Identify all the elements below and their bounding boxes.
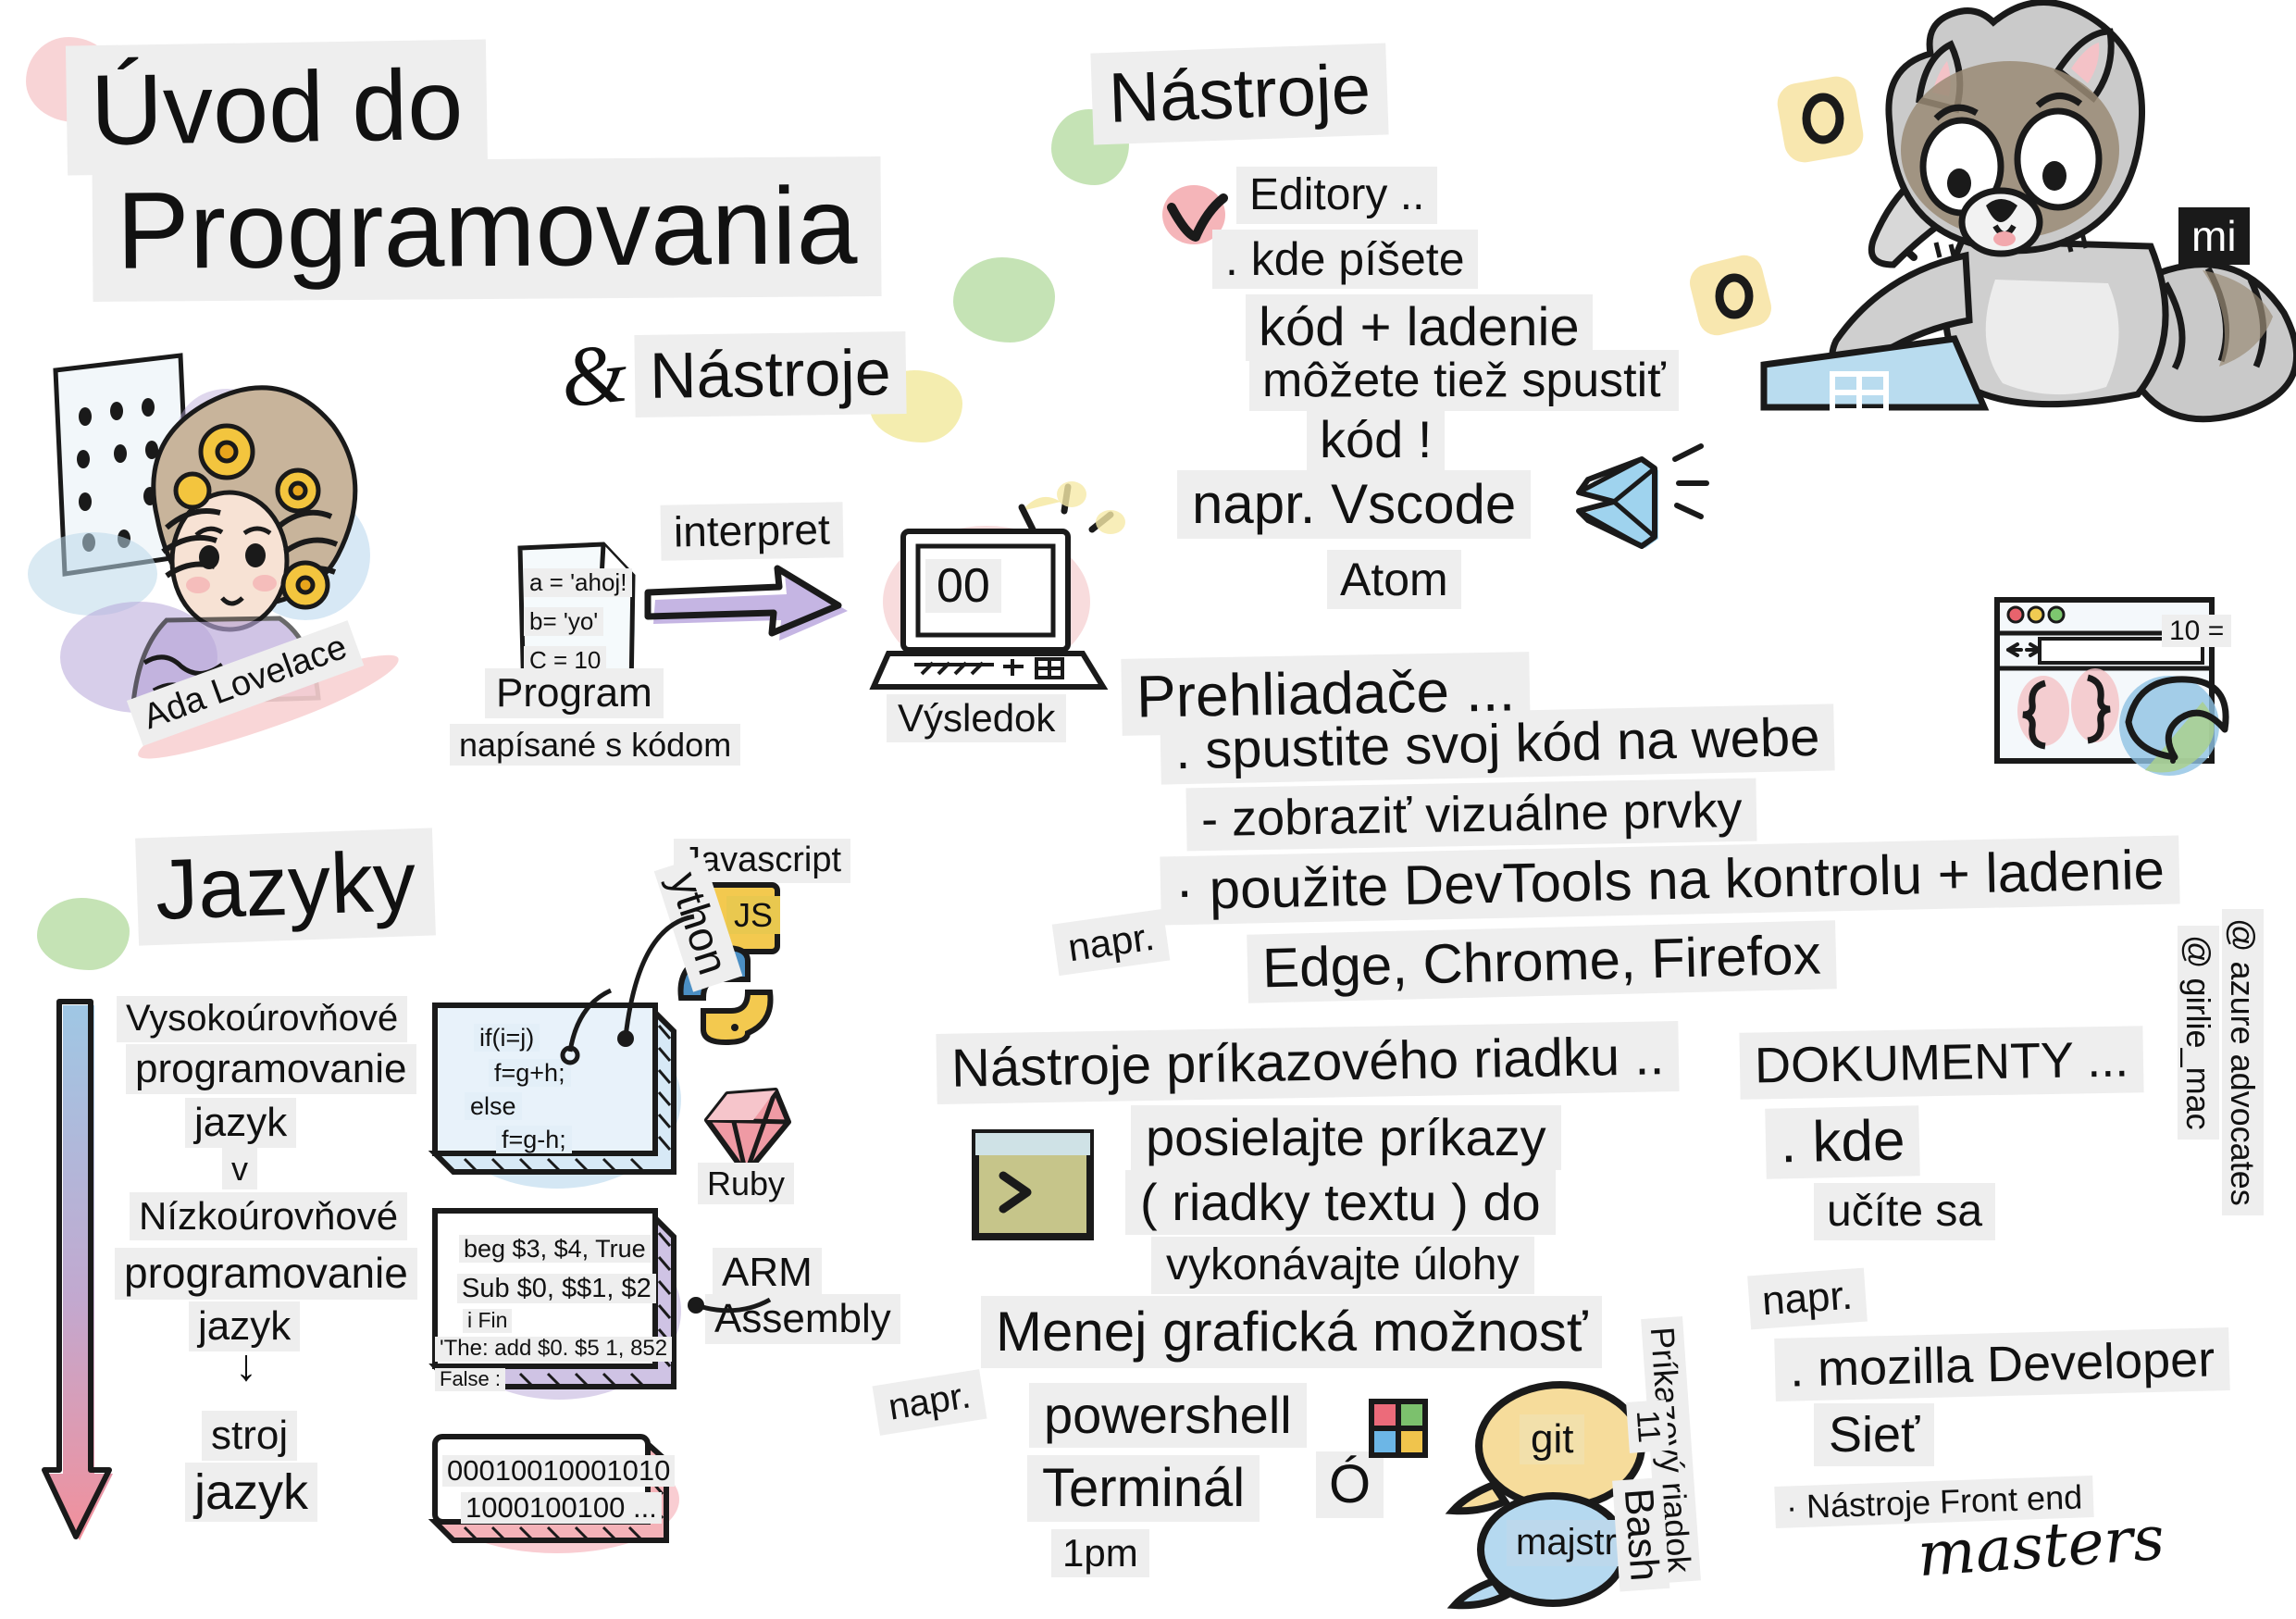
cli-line-2: ( riadky textu ) do [1125,1170,1556,1235]
asm-code-line-3: i Fin [463,1309,512,1333]
high-code-line-2: f=g+h; [489,1059,571,1087]
docs-example-1: . mozilla Developer [1774,1327,2230,1401]
high-code-line-3: else [465,1092,522,1120]
result-label: Výsledok [887,694,1066,742]
ladder-down-arrow: ↓ [235,1340,257,1391]
browsers-example-prefix: napr. [1052,909,1171,976]
browsers-line-2: - zobraziť vizuálne prvky [1185,778,1757,852]
docs-line-1: . kde [1765,1105,1920,1179]
ladder-item-2: jazyk [185,1098,296,1148]
mascot-label: mi [2178,207,2250,265]
ladder-item-0: Vysokoúrovňové [117,996,407,1042]
program-sublabel: napísané s kódom [450,724,740,766]
binary-line-1: 00010010001010 [442,1455,675,1487]
binary-line-2: 1000100100 ... [461,1492,662,1524]
tools-line-3: môžete tiež spustiť [1249,350,1679,411]
credit-handle-girlie-mac: @ girlie_mac [2178,926,2219,1140]
browser-window-badge: 10 = [2162,615,2231,647]
browsers-examples: Edge, Chrome, Firefox [1247,920,1836,1003]
ladder-item-4: Nízkoúrovňové [130,1192,407,1240]
cli-note: Menej grafická možnosť [981,1296,1602,1368]
result-sparkle-icon [1007,474,1127,585]
program-code-line-1: a = 'ahoj! [524,568,632,597]
program-label: Program [485,668,664,718]
tools-line-5: napr. Vscode [1177,470,1531,539]
cli-example-terminal: Terminál [1027,1455,1260,1522]
interpret-arrow-icon [648,568,861,652]
ladder-item-3: v [222,1148,257,1189]
cli-example-powershell: powershell [1029,1383,1307,1448]
cli-example-1pm: 1pm [1051,1529,1149,1577]
asm-code-line-5: False : [435,1368,505,1391]
ladder-item-9: jazyk [185,1463,317,1522]
high-code-line-4: f=g-h; [496,1126,572,1153]
editors-heading: Editory .. [1236,167,1437,224]
cli-example-prefix: napr. [873,1369,987,1435]
bubble-label-git: git [1520,1414,1584,1464]
tools-line-1: . kde píšete [1212,230,1478,289]
languages-heading: Jazyky [135,828,436,945]
cli-heading: Nástroje príkazového riadku .. [936,1021,1680,1104]
cli-vertical-bash: Bash [1612,1477,1669,1592]
lang-connector-lines [574,879,814,1398]
vscode-sparkle-icon [1664,439,1738,522]
tools-line-6: Atom [1327,550,1461,609]
cli-line-1: posielajte príkazy [1131,1105,1561,1170]
docs-heading: DOKUMENTY ... [1739,1026,2143,1100]
page-title-line2: Programovania [92,156,881,302]
interpret-label: interpret [660,502,843,560]
high-code-line-1: if(i=j) [474,1024,540,1052]
ampersand-glyph: & [556,323,632,428]
docs-example-2: Sieť [1814,1403,1934,1466]
ladder-item-1: programovanie [126,1044,416,1094]
windows-logo-icon [1366,1396,1433,1463]
title-green-blob [953,257,1055,342]
docs-line-2: učíte sa [1814,1183,1995,1240]
page-title-line1: Úvod do [66,39,488,175]
languages-green-blob [37,898,130,970]
cli-vertical-11: 11 [1626,1400,1669,1453]
ladder-item-8: stroj [202,1411,297,1461]
cli-line-3: vykonávajte úlohy [1151,1237,1534,1294]
title-suffix: Nástroje [634,331,906,417]
tools-line-4: kód ! [1307,407,1445,472]
ladder-item-5: programovanie [115,1248,417,1300]
tools-heading: Nástroje [1090,43,1388,144]
browsers-line-1: . spustite svoj kód na webe [1160,704,1835,785]
credit-handle-azure: @ azure advocates [2222,909,2264,1215]
program-code-line-2: b= 'yo' [524,607,603,636]
docs-example-prefix: napr. [1747,1268,1868,1329]
terminal-icon [962,1122,1111,1252]
result-screen-text: 00 [925,559,1001,613]
